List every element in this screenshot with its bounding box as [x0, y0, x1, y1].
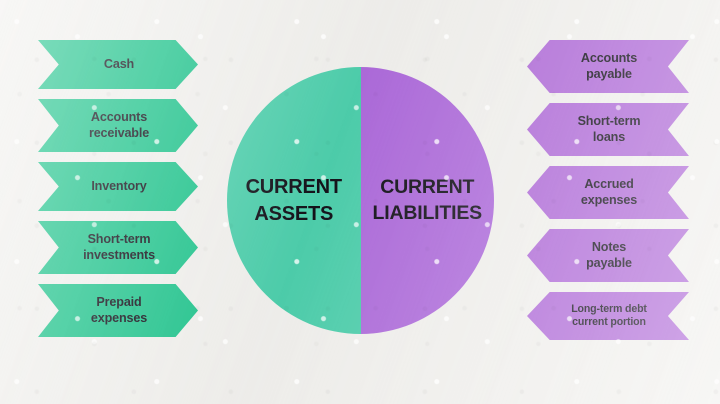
- current-liability-item-arrow[interactable]: Accrued expenses: [527, 166, 689, 219]
- current-assets-label: CURRENT ASSETS: [242, 174, 346, 227]
- current-asset-item-arrow[interactable]: Cash: [38, 40, 198, 89]
- current-asset-item-arrow[interactable]: Prepaid expenses: [38, 284, 198, 337]
- current-asset-item-arrow[interactable]: Inventory: [38, 162, 198, 211]
- current-liability-item-arrow-label: Long-term debt current portion: [571, 303, 647, 329]
- current-assets-half: CURRENT ASSETS: [227, 67, 361, 334]
- current-asset-item-arrow[interactable]: Short-term investments: [38, 221, 198, 274]
- current-liability-item-arrow-label: Notes payable: [586, 240, 632, 271]
- current-liability-item-arrow-label: Short-term loans: [578, 114, 641, 145]
- current-liability-item-arrow[interactable]: Accounts payable: [527, 40, 689, 93]
- current-liability-item-arrow[interactable]: Short-term loans: [527, 103, 689, 156]
- current-liabilities-label: CURRENT LIABILITIES: [369, 175, 486, 226]
- current-assets-arrow-column: CashAccounts receivableInventoryShort-te…: [38, 40, 198, 337]
- assets-liabilities-circle: CURRENT ASSETS CURRENT LIABILITIES: [227, 67, 494, 334]
- current-asset-item-arrow-label: Cash: [104, 57, 134, 72]
- current-asset-item-arrow-label: Inventory: [91, 179, 146, 194]
- infographic-canvas: CashAccounts receivableInventoryShort-te…: [0, 0, 720, 404]
- current-liabilities-half: CURRENT LIABILITIES: [361, 67, 495, 334]
- current-asset-item-arrow-label: Short-term investments: [83, 232, 155, 263]
- current-asset-item-arrow[interactable]: Accounts receivable: [38, 99, 198, 152]
- current-liabilities-arrow-column: Accounts payableShort-term loansAccrued …: [527, 40, 689, 340]
- current-liability-item-arrow-label: Accrued expenses: [581, 177, 637, 208]
- current-asset-item-arrow-label: Prepaid expenses: [91, 295, 147, 326]
- current-liability-item-arrow[interactable]: Long-term debt current portion: [527, 292, 689, 340]
- current-asset-item-arrow-label: Accounts receivable: [89, 110, 149, 141]
- current-liability-item-arrow[interactable]: Notes payable: [527, 229, 689, 282]
- current-liability-item-arrow-label: Accounts payable: [581, 51, 637, 82]
